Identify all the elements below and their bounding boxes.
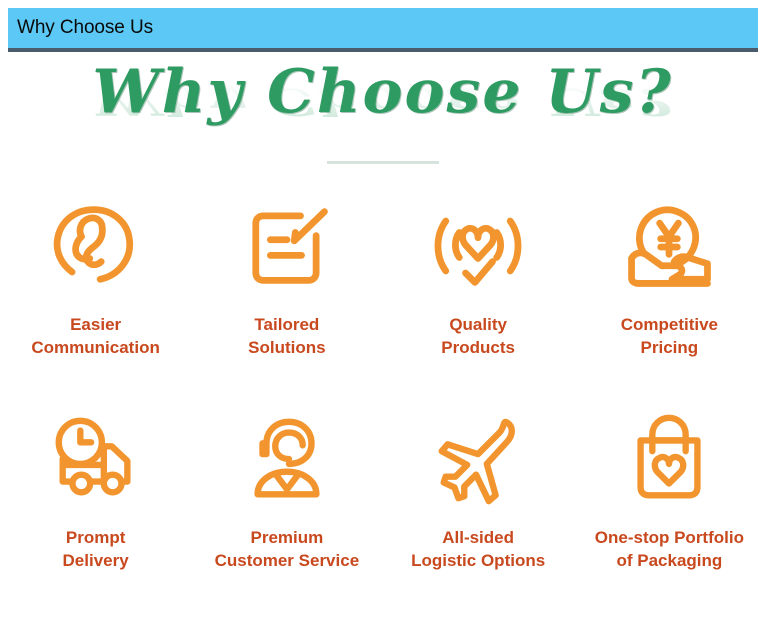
feature-item-one-stop-portfolio-of-packaging[interactable]: One-stop Portfolio of Packaging [574,402,765,618]
feature-label: Tailored Solutions [248,313,325,359]
hand-yen-coin-icon [617,194,721,298]
hero-section: Why Choose Us? Why Choose Us? [0,56,765,168]
feature-item-quality-products[interactable]: Quality Products [383,186,574,402]
page-title: Why Choose Us? [0,58,765,126]
feature-item-tailored-solutions[interactable]: Tailored Solutions [191,186,382,402]
feature-label: Easier Communication [31,313,159,359]
feature-label: Prompt Delivery [63,526,129,572]
feature-item-prompt-delivery[interactable]: Prompt Delivery [0,402,191,618]
feature-label: Competitive Pricing [621,313,718,359]
airplane-icon [426,410,530,508]
document-pencil-icon [235,194,339,298]
feature-item-easier-communication[interactable]: Easier Communication [0,186,191,402]
window-title: Why Choose Us [8,17,153,39]
heart-signal-check-icon [426,194,530,298]
shopping-bag-heart-icon [617,410,721,508]
window-title-bar: Why Choose Us [8,8,758,52]
feature-item-premium-customer-service[interactable]: Premium Customer Service [191,402,382,618]
feature-label: Quality Products [441,313,515,359]
ear-listening-icon [44,194,148,298]
title-divider [327,161,439,164]
page-content: Why Choose Us? Why Choose Us? Easier Com… [0,56,765,599]
feature-item-all-sided-logistic-options[interactable]: All-sided Logistic Options [383,402,574,618]
feature-label: All-sided Logistic Options [411,526,545,572]
feature-label: One-stop Portfolio of Packaging [595,526,744,572]
headset-agent-icon [235,410,339,508]
delivery-truck-clock-icon [44,410,148,508]
feature-item-competitive-pricing[interactable]: Competitive Pricing [574,186,765,402]
feature-label: Premium Customer Service [215,526,360,572]
feature-grid: Easier Communication Tailored Solutions [0,186,765,618]
